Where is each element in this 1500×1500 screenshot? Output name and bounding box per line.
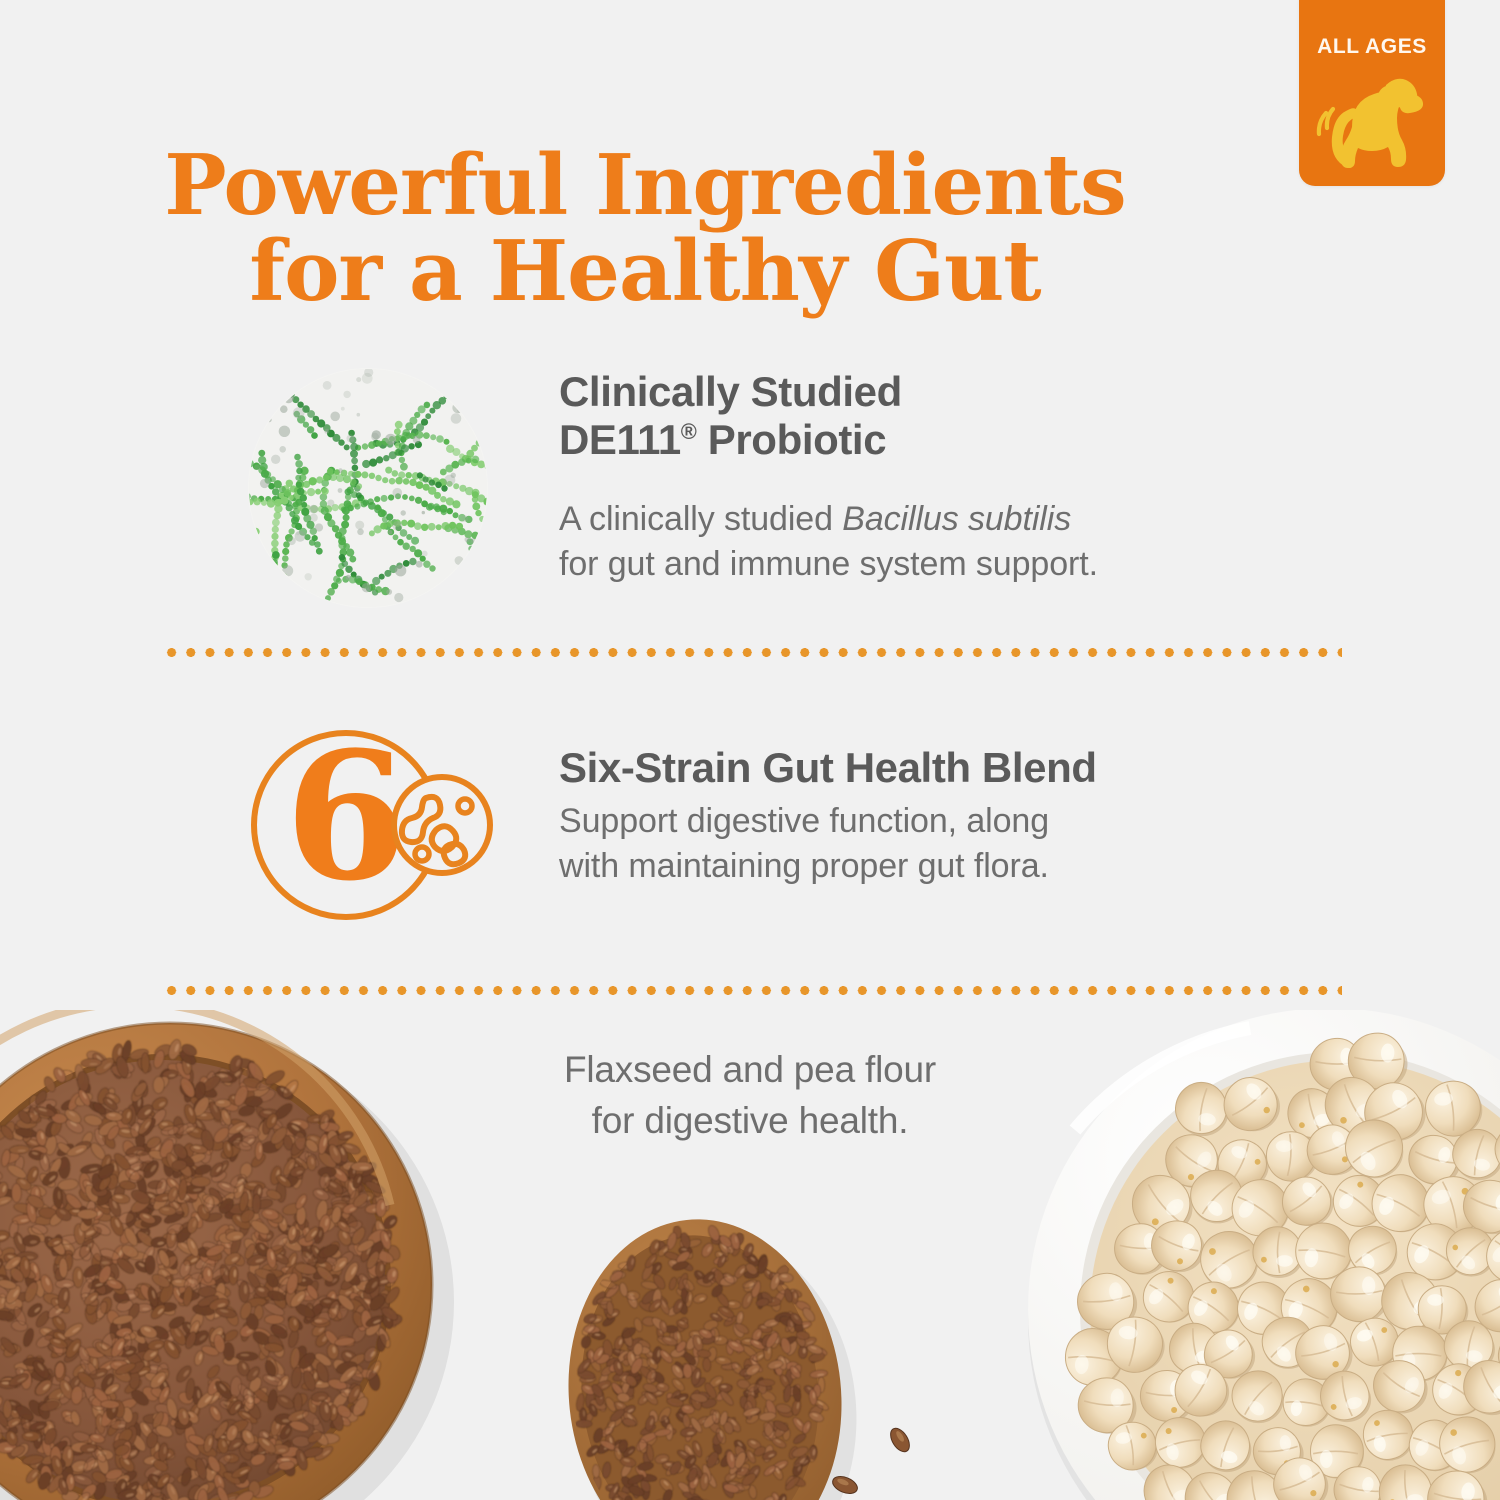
feature-probiotic-heading: Clinically Studied DE111® Probiotic (559, 368, 1279, 464)
feature-blend-body: Support digestive function, along with m… (559, 799, 1319, 890)
all-ages-badge: ALL AGES (1299, 0, 1445, 186)
sitting-dog-icon (1316, 63, 1428, 180)
registered-trademark-symbol: ® (681, 419, 697, 444)
caption-line-1: Flaxseed and pea flour (564, 1049, 936, 1090)
dotted-divider-2 (162, 986, 1342, 995)
caption-line-2: for digestive health. (592, 1100, 909, 1141)
species-name-italic: Bacillus subtilis (842, 500, 1071, 538)
body-line-2: for gut and immune system support. (559, 545, 1098, 583)
title-line-2: for a Healthy Gut (0, 228, 1290, 314)
feature-blend-heading: Six-Strain Gut Health Blend (559, 744, 1319, 792)
dotted-divider-1 (162, 648, 1342, 657)
blend-body-line-2: with maintaining proper gut flora. (559, 847, 1049, 885)
heading-line-1: Clinically Studied (559, 368, 902, 415)
ingredient-caption: Flaxseed and pea flour for digestive hea… (0, 1044, 1500, 1146)
heading-probiotic-word: Probiotic (696, 416, 886, 463)
all-ages-label: ALL AGES (1317, 36, 1427, 57)
feature-clinically-studied-probiotic: Clinically Studied DE111® Probiotic A cl… (248, 368, 1279, 588)
feature-six-strain-blend: Six-Strain Gut Health Blend Support dige… (248, 718, 1319, 890)
body-prefix: A clinically studied (559, 500, 842, 538)
blend-body-line-1: Support digestive function, along (559, 802, 1049, 840)
title-line-1: Powerful Ingredients (164, 136, 1126, 234)
page-title: Powerful Ingredients for a Healthy Gut (0, 142, 1290, 315)
infographic-canvas: ALL AGES (0, 0, 1500, 1500)
heading-de111: DE111 (559, 416, 681, 463)
feature-probiotic-body: A clinically studied Bacillus subtilis f… (559, 497, 1279, 588)
